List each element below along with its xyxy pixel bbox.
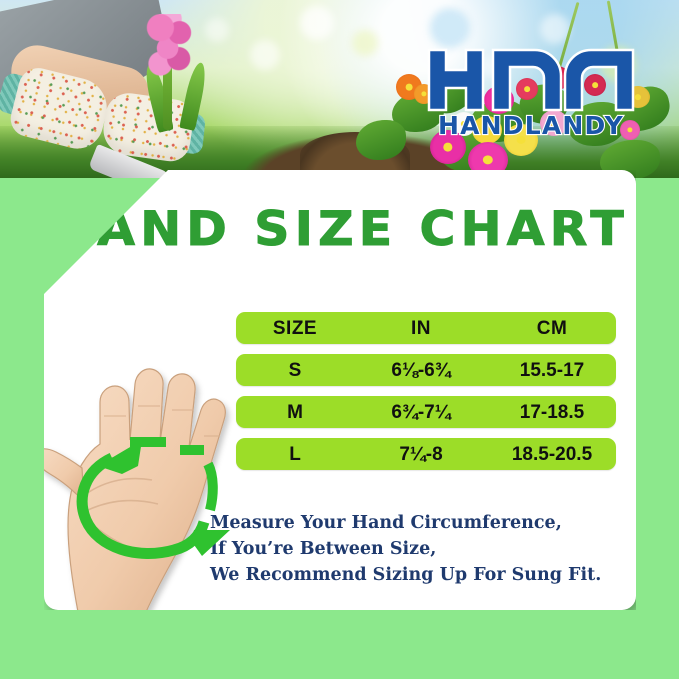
cell-cm: 15.5-17	[488, 361, 616, 380]
hand-illustration-svg	[34, 344, 242, 620]
bokeh-spot	[205, 18, 229, 42]
table-row: L 7¼-8 18.5-20.5	[236, 438, 616, 470]
cell-size: M	[236, 403, 354, 422]
table-header-cm: CM	[488, 319, 616, 338]
table-header-row: SIZE IN CM	[236, 312, 616, 344]
size-table: SIZE IN CM S 6⅛-6¾ 15.5-17 M 6¾-7¼ 17-18…	[236, 312, 616, 470]
cell-in: 7¼-8	[354, 445, 488, 464]
cell-cm: 17-18.5	[488, 403, 616, 422]
note-line-3: We Recommend Sizing Up For Sung Fit.	[210, 562, 601, 588]
arrow-head-right	[192, 530, 230, 556]
table-row: S 6⅛-6¾ 15.5-17	[236, 354, 616, 386]
hand-thumb	[36, 449, 84, 502]
photo-hyacinth-flower	[146, 14, 194, 76]
bokeh-spot	[250, 40, 280, 70]
logo-wordmark: HANDLANDY	[438, 111, 624, 138]
cell-in: 6¾-7¼	[354, 403, 488, 422]
bokeh-spot	[430, 8, 470, 48]
note-line-2: If You’re Between Size,	[210, 536, 601, 562]
page-root: HANDLANDY HAND SIZE CHART SIZE IN CM S 6…	[0, 0, 679, 679]
logo-letter-h	[429, 50, 483, 110]
page-title: HAND SIZE CHART	[32, 202, 648, 257]
bokeh-spot	[352, 30, 378, 56]
brand-logo: HANDLANDY	[425, 44, 637, 138]
cell-in: 6⅛-6¾	[354, 361, 488, 380]
bokeh-spot	[300, 6, 334, 40]
hand-circumference-diagram	[34, 344, 242, 620]
note-line-1: Measure Your Hand Circumference,	[210, 510, 601, 536]
size-chart-card: HAND SIZE CHART SIZE IN CM S 6⅛-6¾ 15.5-…	[44, 170, 636, 610]
handlandy-logo-svg: HANDLANDY	[425, 44, 637, 138]
table-header-in: IN	[354, 319, 488, 338]
table-header-size: SIZE	[236, 319, 354, 338]
logo-letter-d	[565, 50, 633, 110]
cell-cm: 18.5-20.5	[488, 445, 616, 464]
hand-shape	[36, 369, 226, 612]
cell-size: L	[236, 445, 354, 464]
logo-letter-l	[493, 50, 561, 110]
measurement-note: Measure Your Hand Circumference, If You’…	[210, 510, 601, 588]
cell-size: S	[236, 361, 354, 380]
table-row: M 6¾-7¼ 17-18.5	[236, 396, 616, 428]
